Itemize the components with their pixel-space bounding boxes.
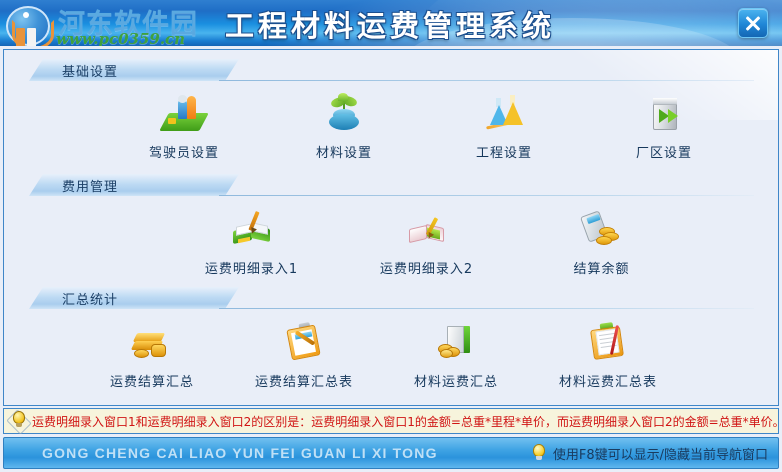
tip-text: 运费明细录入窗口1和运费明细录入窗口2的区别是：运费明细录入窗口1的金额=总重*…	[32, 413, 778, 430]
material-freight-report-icon	[586, 322, 630, 364]
tile-label: 运费明细录入1	[205, 258, 298, 277]
tile-label: 运费结算汇总表	[255, 371, 353, 390]
tile-label: 运费结算汇总	[110, 371, 194, 390]
factory-area-settings-icon	[642, 93, 686, 135]
tile-freight-detail-entry-1[interactable]: 运费明细录入1	[164, 207, 339, 279]
section-header-basic-settings: 基础设置	[4, 59, 779, 81]
tile-label: 结算余额	[573, 258, 629, 277]
tile-project-settings[interactable]: 工程设置	[424, 91, 584, 163]
tile-label: 材料运费汇总表	[559, 371, 657, 390]
tile-label: 驾驶员设置	[149, 142, 219, 161]
tile-material-freight-summary[interactable]: 材料运费汇总	[380, 320, 532, 392]
tile-label: 运费明细录入2	[380, 258, 473, 277]
section-title: 汇总统计	[62, 289, 118, 308]
tile-label: 材料设置	[316, 142, 372, 161]
freight-detail-entry-2-icon	[405, 209, 449, 251]
tile-label: 工程设置	[476, 142, 532, 161]
section-header-summary-statistics: 汇总统计	[4, 287, 779, 309]
tile-freight-settlement-summary[interactable]: 运费结算汇总	[76, 320, 228, 392]
f8-hint: 使用F8键可以显示/隐藏当前导航窗口	[531, 442, 768, 464]
tip-bar: 运费明细录入窗口1和运费明细录入窗口2的区别是：运费明细录入窗口1的金额=总重*…	[3, 408, 779, 434]
tile-freight-settlement-report[interactable]: 运费结算汇总表	[228, 320, 380, 392]
freight-detail-entry-1-icon	[230, 209, 274, 251]
tile-material-settings[interactable]: 材料设置	[264, 91, 424, 163]
section-banner-shape	[29, 174, 239, 196]
tile-row-summary-statistics: 运费结算汇总 运费结算汇总表 材料运费汇总	[4, 320, 779, 392]
section-rule	[219, 195, 754, 196]
navigation-panel: 基础设置 驾驶员设置 材料设置	[3, 49, 779, 406]
title-bar: 河东软件园 www.pc0359.cn 工程材料运费管理系统	[0, 0, 782, 46]
material-settings-icon	[322, 93, 366, 135]
close-icon[interactable]	[738, 8, 768, 38]
status-bar: GONG CHENG CAI LIAO YUN FEI GUAN LI XI T…	[3, 437, 779, 469]
section-title: 费用管理	[62, 176, 118, 195]
freight-settlement-summary-icon	[130, 322, 174, 364]
material-freight-summary-icon	[434, 322, 478, 364]
lightbulb-icon	[531, 442, 547, 464]
section-rule	[219, 308, 754, 309]
tile-driver-settings[interactable]: 驾驶员设置	[104, 91, 264, 163]
section-banner-shape	[29, 287, 239, 309]
section-header-expense-management: 费用管理	[4, 174, 779, 196]
section-basic-settings: 基础设置	[4, 59, 779, 81]
f8-hint-text: 使用F8键可以显示/隐藏当前导航窗口	[553, 444, 768, 463]
project-settings-icon	[482, 93, 526, 135]
section-title: 基础设置	[62, 61, 118, 80]
pinyin-subtitle: GONG CHENG CAI LIAO YUN FEI GUAN LI XI T…	[42, 445, 438, 461]
section-banner-shape	[29, 59, 239, 81]
watermark-url: www.pc0359.cn	[56, 30, 185, 46]
tile-freight-detail-entry-2[interactable]: 运费明细录入2	[339, 207, 514, 279]
tile-material-freight-report[interactable]: 材料运费汇总表	[532, 320, 684, 392]
watermark-logo-icon	[4, 2, 60, 46]
app-title: 工程材料运费管理系统	[225, 3, 555, 45]
settlement-balance-icon	[580, 209, 624, 251]
tile-factory-area-settings[interactable]: 厂区设置	[584, 91, 744, 163]
tile-row-basic-settings: 驾驶员设置 材料设置 工程设置	[4, 91, 779, 163]
freight-settlement-report-icon	[282, 322, 326, 364]
lightbulb-icon	[8, 410, 30, 432]
section-summary-statistics: 汇总统计	[4, 287, 779, 309]
tile-row-expense-management: 运费明细录入1 运费明细录入2 结算余额	[4, 207, 779, 279]
tile-label: 厂区设置	[636, 142, 692, 161]
driver-settings-icon	[162, 93, 206, 135]
tile-settlement-balance[interactable]: 结算余额	[514, 207, 689, 279]
section-expense-management: 费用管理	[4, 174, 779, 196]
section-rule	[219, 80, 754, 81]
application-window: 河东软件园 www.pc0359.cn 工程材料运费管理系统 基础设置 驾驶员设…	[0, 0, 782, 472]
tile-label: 材料运费汇总	[414, 371, 498, 390]
